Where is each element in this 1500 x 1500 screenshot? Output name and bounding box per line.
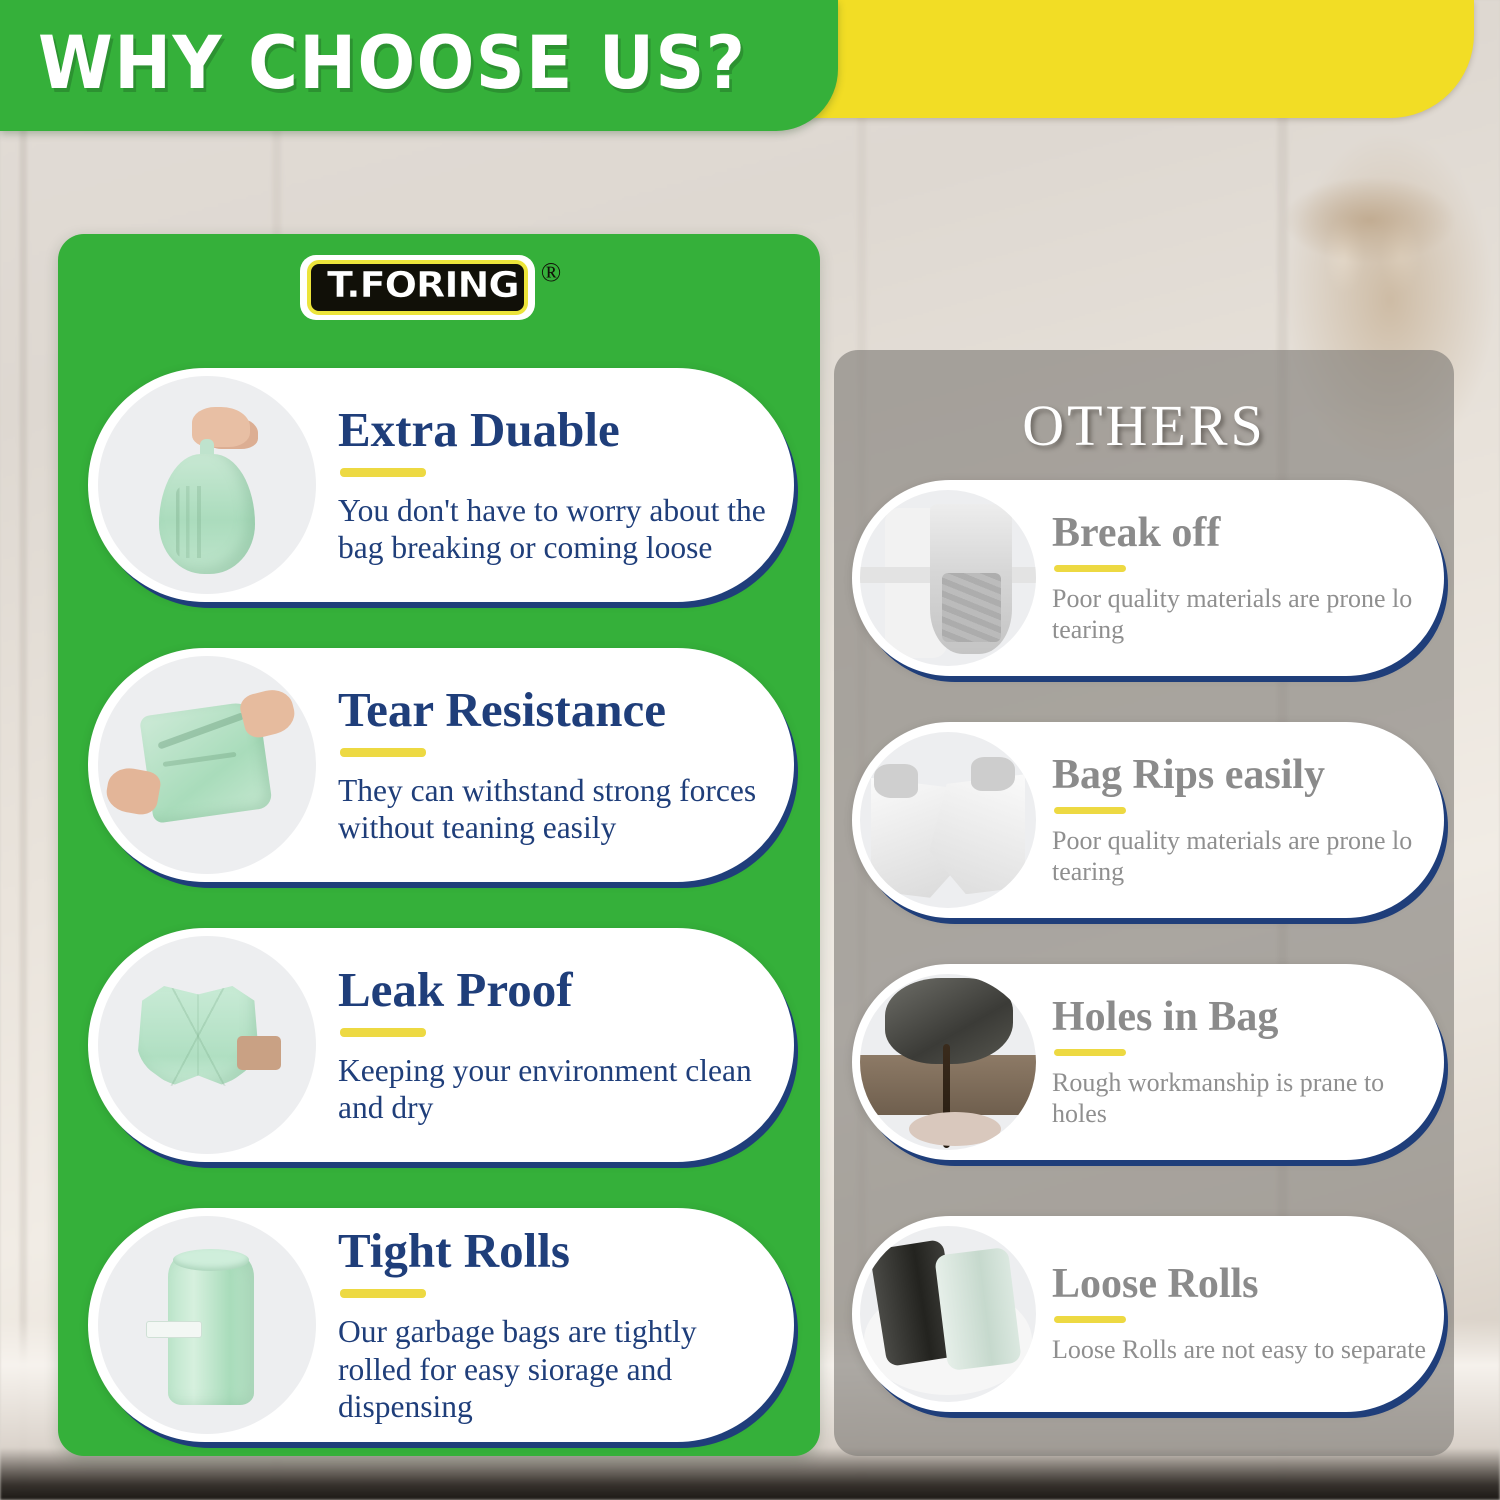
card-body: Tear Resistance They can withstand stron… — [316, 684, 794, 847]
feature-card-leak-proof[interactable]: Leak Proof Keeping your environment clea… — [88, 928, 794, 1162]
card-description: Loose Rolls are not easy to separate — [1052, 1335, 1430, 1366]
card-title: Extra Duable — [338, 404, 776, 455]
card-description: They can withstand strong forces without… — [338, 772, 776, 846]
card-title: Leak Proof — [338, 964, 776, 1015]
card-description: You don't have to worry about the bag br… — [338, 492, 776, 566]
card-description: Our garbage bags are tightly rolled for … — [338, 1313, 776, 1424]
title-accent-underline — [1054, 1049, 1126, 1056]
drawback-card-bag-rips-easily[interactable]: Bag Rips easily Poor quality materials a… — [852, 722, 1444, 918]
thumbnail-hands-stretching-bag — [98, 656, 316, 874]
thumbnail-person-carrying-clear-bag — [860, 490, 1036, 666]
feature-card-tight-rolls[interactable]: Tight Rolls Our garbage bags are tightly… — [88, 1208, 794, 1442]
card-body: Holes in Bag Rough workmanship is prane … — [1036, 995, 1444, 1129]
thumbnail-hand-holding-green-bag — [98, 376, 316, 594]
title-accent-underline — [340, 1028, 426, 1037]
card-title: Tear Resistance — [338, 684, 776, 735]
title-accent-underline — [1054, 1316, 1126, 1323]
card-description: Rough workmanship is prane to holes — [1052, 1068, 1430, 1129]
others-heading: OTHERS — [834, 392, 1454, 459]
card-body: Leak Proof Keeping your environment clea… — [316, 964, 794, 1127]
thumbnail-bag-leaking-liquid — [860, 974, 1036, 1150]
logo-inner-frame: T.FORING — [307, 260, 528, 315]
title-accent-underline — [340, 468, 426, 477]
brand-logo: T.FORING ® — [300, 255, 561, 320]
card-title: Tight Rolls — [338, 1225, 776, 1276]
card-title: Break off — [1052, 511, 1430, 555]
feature-card-tear-resistance[interactable]: Tear Resistance They can withstand stron… — [88, 648, 794, 882]
page-title: WHY CHOOSE US? — [38, 21, 746, 106]
card-body: Bag Rips easily Poor quality materials a… — [1036, 753, 1444, 887]
card-body: Break off Poor quality materials are pro… — [1036, 511, 1444, 645]
infographic-root: WHY CHOOSE US? T.FORING ® OTHERS Extra D… — [0, 0, 1500, 1500]
title-accent-underline — [1054, 807, 1126, 814]
title-accent-underline — [340, 748, 426, 757]
thumbnail-green-bag-roll — [98, 1216, 316, 1434]
card-description: Poor quality materials are prone lo tear… — [1052, 826, 1430, 887]
card-body: Tight Rolls Our garbage bags are tightly… — [316, 1225, 794, 1425]
feature-card-extra-duable[interactable]: Extra Duable You don't have to worry abo… — [88, 368, 794, 602]
title-accent-underline — [1054, 565, 1126, 572]
registered-trademark-icon: ® — [541, 257, 562, 288]
drawback-card-loose-rolls[interactable]: Loose Rolls Loose Rolls are not easy to … — [852, 1216, 1444, 1412]
thumbnail-two-loose-rolls — [860, 1226, 1036, 1402]
title-accent-underline — [340, 1289, 426, 1298]
thumbnail-open-green-bag — [98, 936, 316, 1154]
card-body: Loose Rolls Loose Rolls are not easy to … — [1036, 1262, 1444, 1366]
brand-name: T.FORING — [327, 268, 519, 305]
card-body: Extra Duable You don't have to worry abo… — [316, 404, 794, 567]
card-title: Holes in Bag — [1052, 995, 1430, 1039]
thumbnail-ripped-white-bag — [860, 732, 1036, 908]
drawback-card-holes-in-bag[interactable]: Holes in Bag Rough workmanship is prane … — [852, 964, 1444, 1160]
logo-plate: T.FORING — [300, 255, 535, 320]
card-description: Poor quality materials are prone lo tear… — [1052, 584, 1430, 645]
card-description: Keeping your environment clean and dry — [338, 1052, 776, 1126]
drawback-card-break-off[interactable]: Break off Poor quality materials are pro… — [852, 480, 1444, 676]
card-title: Bag Rips easily — [1052, 753, 1430, 797]
card-title: Loose Rolls — [1052, 1262, 1430, 1306]
